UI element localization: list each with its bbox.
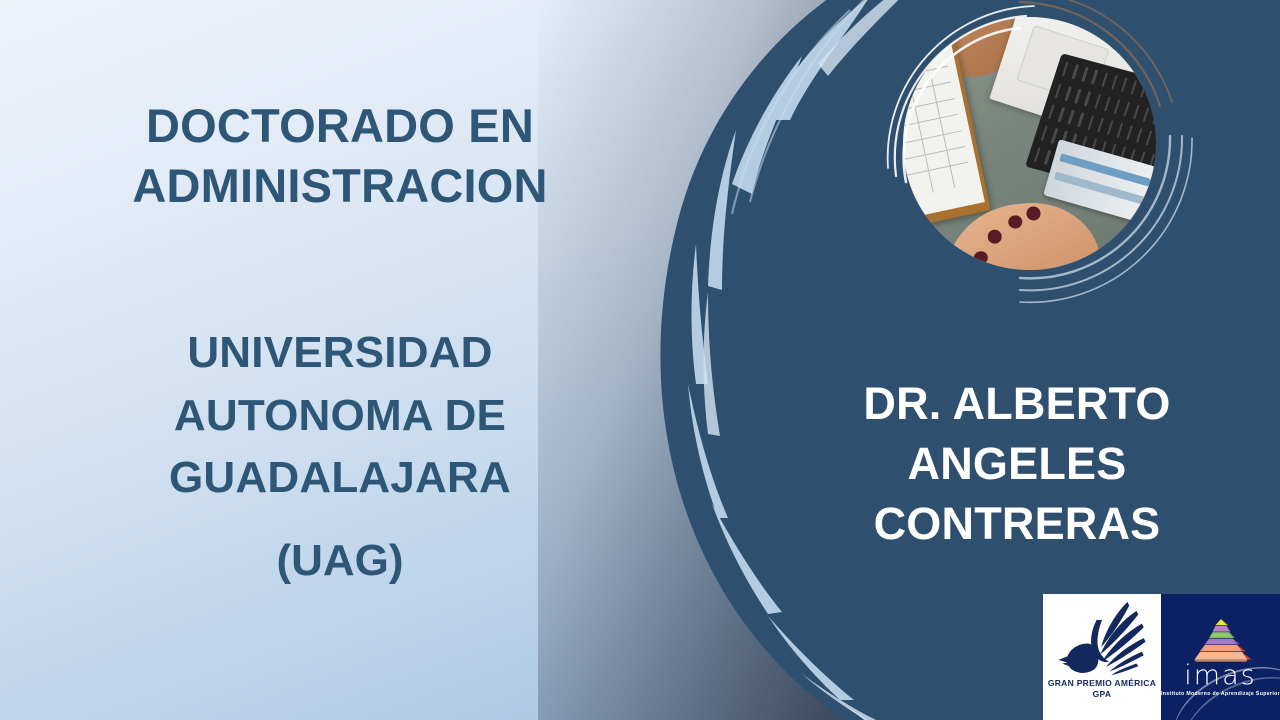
program-title: DOCTORADO EN ADMINISTRACION bbox=[40, 96, 640, 216]
university-acronym: (UAG) bbox=[40, 536, 640, 586]
logo-gran-premio-america: GRAN PREMIO AMÉRICA GPA bbox=[1043, 594, 1161, 720]
logo-gpa-caption-line-1: GRAN PREMIO AMÉRICA bbox=[1048, 678, 1156, 689]
university-line-2: AUTONOMA DE bbox=[40, 385, 640, 447]
logo-bar: GRAN PREMIO AMÉRICA GPA bbox=[1043, 594, 1280, 720]
presenter-name: DR. ALBERTO ANGELES CONTRERAS bbox=[782, 374, 1252, 554]
presenter-name-line-2: ANGELES bbox=[782, 434, 1252, 494]
logo-gpa-caption-line-2: GPA bbox=[1048, 689, 1156, 700]
logo-imas: imas Instituto Moderno de Aprendizaje Su… bbox=[1161, 594, 1280, 720]
university-line-3: GUADALAJARA bbox=[40, 447, 640, 509]
eagle-wing-icon bbox=[1056, 600, 1148, 678]
university-line-1: UNIVERSIDAD bbox=[40, 322, 640, 384]
presenter-photo bbox=[903, 17, 1156, 270]
title-slide: DOCTORADO EN ADMINISTRACION UNIVERSIDAD … bbox=[0, 0, 1280, 720]
program-title-line-2: ADMINISTRACION bbox=[40, 156, 640, 216]
university-name: UNIVERSIDAD AUTONOMA DE GUADALAJARA bbox=[40, 322, 640, 509]
program-title-line-1: DOCTORADO EN bbox=[40, 96, 640, 156]
presenter-name-line-3: CONTRERAS bbox=[782, 494, 1252, 554]
logo-gpa-caption: GRAN PREMIO AMÉRICA GPA bbox=[1048, 678, 1156, 699]
left-text-block: DOCTORADO EN ADMINISTRACION UNIVERSIDAD … bbox=[40, 96, 640, 586]
pyramid-icon bbox=[1179, 617, 1263, 663]
presenter-name-line-1: DR. ALBERTO bbox=[782, 374, 1252, 434]
